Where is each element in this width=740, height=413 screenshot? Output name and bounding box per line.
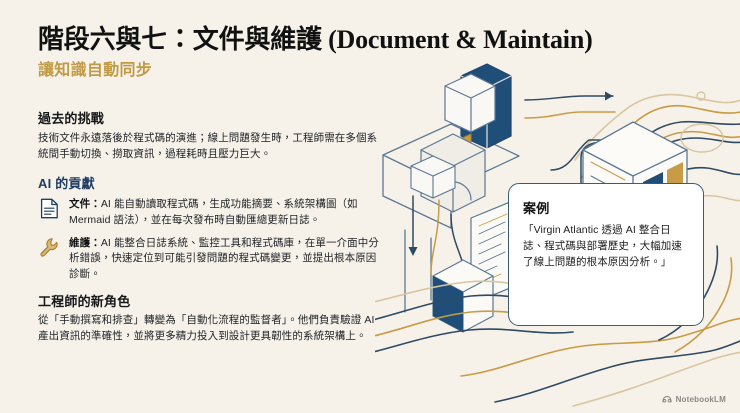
section-body-past-challenge: 技術文件永遠落後於程式碼的演進；線上問題發生時，工程師需在多個系統間手動切換、撈… <box>38 131 386 163</box>
page-subtitle: 讓知識自動同步 <box>38 61 678 82</box>
section-past-challenge: 過去的挑戰 技術文件永遠落後於程式碼的演進；線上問題發生時，工程師需在多個系統間… <box>38 110 386 162</box>
list-item-text: 文件：AI 能自動讀取程式碼，生成功能摘要、系統架構圖（如 Mermaid 語法… <box>69 197 386 229</box>
list-item-text: 維護：AI 能整合日誌系統、監控工具和程式碼庫，在單一介面中分析錯誤，快速定位到… <box>69 236 386 283</box>
content-column: 過去的挑戰 技術文件永遠落後於程式碼的演進；線上問題發生時，工程師需在多個系統間… <box>38 110 386 358</box>
notebooklm-icon <box>662 394 672 404</box>
page-title: 階段六與七：文件與維護 (Document & Maintain) <box>38 24 678 56</box>
slide-root: 階段六與七：文件與維護 (Document & Maintain) 讓知識自動同… <box>0 0 740 413</box>
list-item: 維護：AI 能整合日誌系統、監控工具和程式碼庫，在單一介面中分析錯誤，快速定位到… <box>38 236 386 283</box>
slide-header: 階段六與七：文件與維護 (Document & Maintain) 讓知識自動同… <box>38 24 678 82</box>
notebooklm-watermark: NotebookLM <box>662 394 726 404</box>
section-ai-contribution: AI 的貢獻 <box>38 175 386 282</box>
list-item-body: AI 能自動讀取程式碼，生成功能摘要、系統架構圖（如 Mermaid 語法），並… <box>69 198 358 226</box>
list-item-label: 文件： <box>69 198 101 210</box>
list-item: 文件：AI 能自動讀取程式碼，生成功能摘要、系統架構圖（如 Mermaid 語法… <box>38 197 386 229</box>
list-item-label: 維護： <box>69 237 101 249</box>
section-engineer-new-role: 工程師的新角色 從「手動撰寫和排查」轉變為「自動化流程的監督者」。他們負責驗證 … <box>38 293 386 345</box>
section-heading-ai-contribution: AI 的貢獻 <box>38 175 386 193</box>
section-body-engineer-new-role: 從「手動撰寫和排查」轉變為「自動化流程的監督者」。他們負責驗證 AI 產出資訊的… <box>38 313 386 345</box>
document-icon <box>38 197 60 221</box>
section-heading-past-challenge: 過去的挑戰 <box>38 110 386 128</box>
list-item-body: AI 能整合日誌系統、監控工具和程式碼庫，在單一介面中分析錯誤，快速定位到可能引… <box>69 237 379 281</box>
ai-contribution-bullet-list: 文件：AI 能自動讀取程式碼，生成功能摘要、系統架構圖（如 Mermaid 語法… <box>38 197 386 283</box>
callout-body: 「Virgin Atlantic 透過 AI 整合日誌、程式碼與部署歷史，大幅加… <box>523 223 689 271</box>
case-study-callout: 案例 「Virgin Atlantic 透過 AI 整合日誌、程式碼與部署歷史，… <box>508 183 704 326</box>
callout-title: 案例 <box>523 198 689 217</box>
section-heading-engineer-new-role: 工程師的新角色 <box>38 293 386 311</box>
wrench-icon <box>38 236 60 260</box>
watermark-label: NotebookLM <box>676 395 726 404</box>
